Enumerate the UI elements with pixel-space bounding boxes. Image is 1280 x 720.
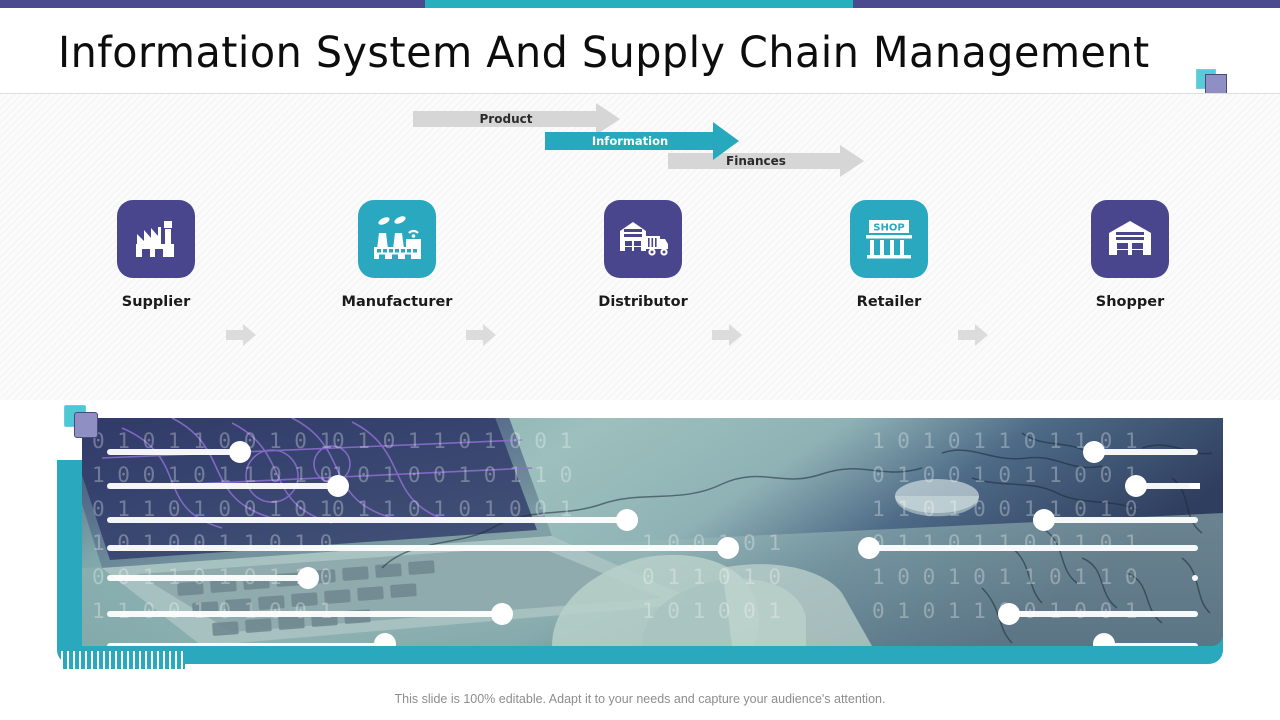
image-frame-ticks — [61, 651, 185, 669]
node-shopper[interactable]: Shopper — [1050, 200, 1210, 310]
node-distributor[interactable]: Distributor — [563, 200, 723, 310]
svg-text:1 0 0 1 0 1 1 0 1 1 0: 1 0 0 1 0 1 1 0 1 1 0 — [872, 565, 1138, 589]
connector-arrow-supplier-manufacturer — [226, 324, 256, 346]
image-decoration-square-purple — [74, 412, 98, 438]
node-label-distributor: Distributor — [563, 294, 723, 310]
connector-arrow-distributor-retailer — [712, 324, 742, 346]
factory-icon — [131, 216, 181, 262]
manufacturer-tile[interactable] — [358, 200, 436, 278]
top-bar-accent — [425, 0, 853, 8]
connector-arrow-manufacturer-distributor — [466, 324, 496, 346]
flow-label-forward-finances: Finances — [726, 154, 786, 168]
connector-arrow-retailer-shopper — [958, 324, 988, 346]
node-manufacturer[interactable]: Manufacturer — [317, 200, 477, 310]
node-retailer[interactable]: SHOP Retailer — [809, 200, 969, 310]
slide-header: Information System And Supply Chain Mana… — [0, 8, 1280, 94]
flow-label-forward-product: Product — [480, 112, 533, 126]
illustration-block: 0 1 0 1 1 0 0 1 0 1 1 0 0 1 0 1 1 0 1 0 … — [57, 418, 1223, 664]
svg-text:0 1 0 0 1 0 1 1 0 0 1: 0 1 0 0 1 0 1 1 0 0 1 — [872, 463, 1138, 487]
retailer-tile[interactable]: SHOP — [850, 200, 928, 278]
node-label-shopper: Shopper — [1050, 294, 1210, 310]
footer-note: This slide is 100% editable. Adapt it to… — [0, 692, 1280, 706]
smokestack-plant-icon — [370, 215, 424, 263]
svg-text:1 0 1 0 0 1: 1 0 1 0 0 1 — [642, 599, 781, 623]
svg-text:0 1 0 1 1 0 1 0 0 1: 0 1 0 1 1 0 1 0 0 1 — [332, 429, 572, 453]
node-label-retailer: Retailer — [809, 294, 969, 310]
node-supplier[interactable]: Supplier — [76, 200, 236, 310]
shopper-tile[interactable] — [1091, 200, 1169, 278]
warehouse-truck-icon — [616, 217, 670, 261]
svg-text:1 0 0 1 0 1: 1 0 0 1 0 1 — [642, 531, 781, 555]
shop-storefront-icon: SHOP — [863, 216, 915, 262]
warehouse-icon — [1105, 217, 1155, 261]
node-label-supplier: Supplier — [76, 294, 236, 310]
supply-chain-diagram-panel: Product Information Finances Product Inf… — [0, 94, 1280, 400]
node-label-manufacturer: Manufacturer — [317, 294, 477, 310]
hero-photo-graphic: 0 1 0 1 1 0 0 1 0 1 1 0 0 1 0 1 1 0 1 0 … — [82, 418, 1223, 646]
slide-root: Information System And Supply Chain Mana… — [0, 0, 1280, 720]
page-title: Information System And Supply Chain Mana… — [58, 28, 1150, 78]
supplier-tile[interactable] — [117, 200, 195, 278]
top-bar — [0, 0, 1280, 8]
hero-photo: 0 1 0 1 1 0 0 1 0 1 1 0 0 1 0 1 1 0 1 0 … — [82, 418, 1223, 646]
svg-text:0 1 1 0 1 1 0 0 1 0 1: 0 1 1 0 1 1 0 0 1 0 1 — [872, 531, 1138, 555]
svg-text:1 0 1 0 0 1 1 0 1 0: 1 0 1 0 0 1 1 0 1 0 — [92, 531, 332, 555]
shop-sign-text: SHOP — [873, 223, 904, 234]
flow-label-forward-information: Information — [592, 134, 668, 148]
svg-text:1 0 1 0 0 1 0 1 1 0: 1 0 1 0 0 1 0 1 1 0 — [332, 463, 572, 487]
distributor-tile[interactable] — [604, 200, 682, 278]
svg-text:0 1 1 0 1 0: 0 1 1 0 1 0 — [642, 565, 781, 589]
